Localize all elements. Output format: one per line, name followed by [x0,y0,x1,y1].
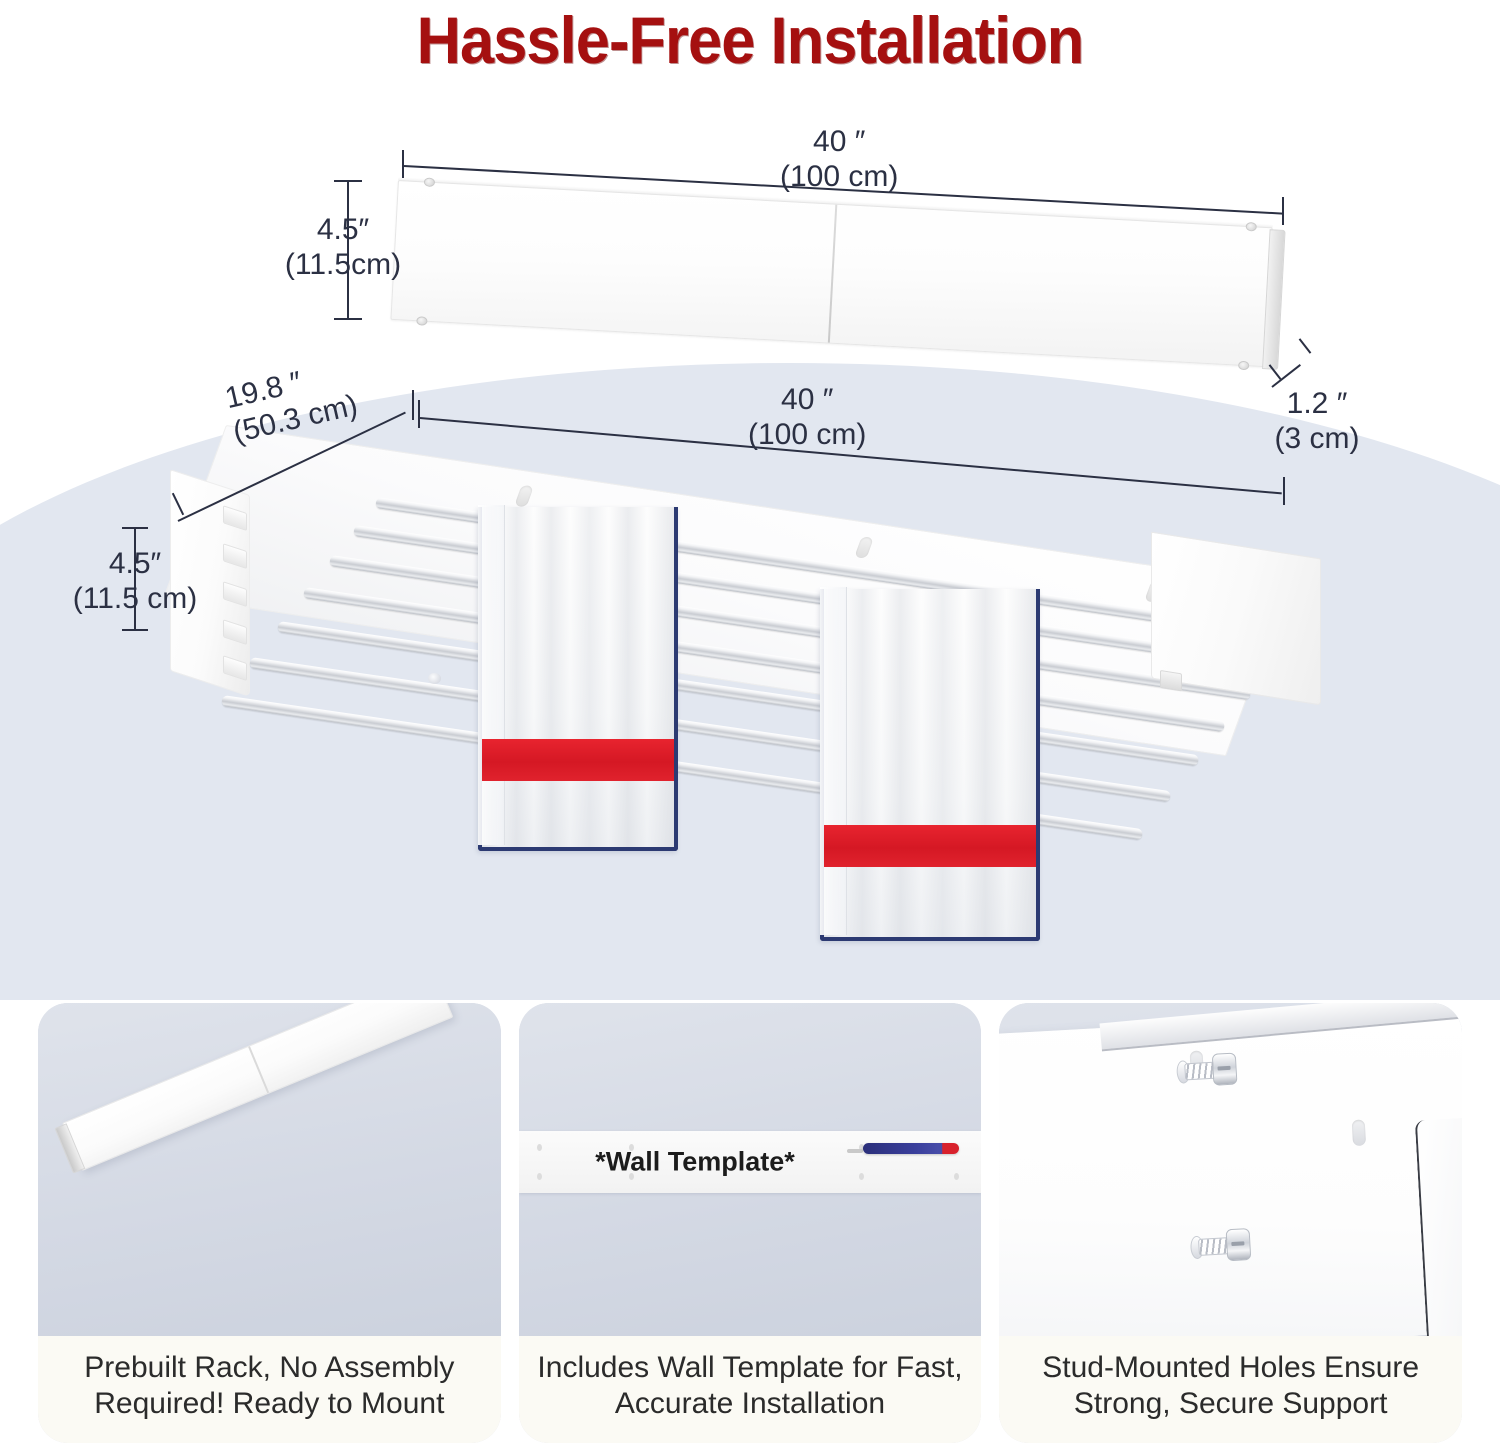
screw-slot [1218,1066,1231,1071]
dimension-tick-left [402,150,404,178]
dimension-value-imperial: 1.2 ″ [1287,387,1348,420]
dimension-tick-right [1282,197,1284,225]
dimension-value-imperial: 4.5″ [317,213,369,246]
folded-rack-seam [828,205,837,343]
dimension-tick-left [418,400,420,428]
towel-fold [478,505,505,845]
dimension-value-imperial: 40 ″ [813,125,865,158]
dimension-tick-right [1283,477,1285,505]
dimension-tick-thickness-b [1299,338,1312,353]
dimension-label-thickness: 1.2 ″ (3 cm) [1252,387,1382,457]
hanging-towel [820,589,1040,941]
feature-card-caption: Stud-Mounted Holes Ensure Strong, Secure… [999,1336,1462,1443]
dimension-label-rack-width: 40 ″ (100 cm) [748,383,866,453]
towel-stripe [824,825,1036,867]
dimension-value-metric: (3 cm) [1252,422,1382,457]
towel-fold [820,587,847,935]
dimension-value-metric: (11.5 cm) [62,582,208,617]
rack-end-cap [1151,532,1321,706]
dimension-tick-bottom [334,318,362,320]
feature-card-prebuilt-rack[interactable]: Prebuilt Rack, No Assembly Required! Rea… [38,1003,501,1443]
bracket-top-rail [1100,1003,1462,1051]
wall-template-strip: *Wall Template* [519,1131,982,1193]
page-title: Hassle-Free Installation [53,2,1448,78]
rod-socket [223,655,247,681]
feature-card-caption: Prebuilt Rack, No Assembly Required! Rea… [38,1336,501,1443]
feature-cards: Prebuilt Rack, No Assembly Required! Rea… [0,1003,1500,1443]
marker-pen-icon [863,1143,959,1154]
dimension-value-imperial: 40 ″ [781,383,833,416]
towel-stripe [482,739,674,781]
feature-card-stud-mounted[interactable]: Stud-Mounted Holes Ensure Strong, Secure… [999,1003,1462,1443]
wall-screw-icon [428,673,441,684]
hanging-towel [478,507,678,851]
feature-card-wall-template[interactable]: *Wall Template* Includes Wall Template f… [519,1003,982,1443]
rod-socket [223,581,247,607]
dimension-tick-depth-far [412,390,414,420]
dimension-value-metric: (100 cm) [780,160,898,195]
mount-slot-icon [854,536,874,559]
mount-slot-icon [514,485,534,508]
rod-socket [223,619,247,645]
caption-line-1: Stud-Mounted Holes Ensure [1009,1350,1452,1387]
stud-mounted-screws-photo [999,1003,1462,1336]
hero-diagram: 40 ″ (100 cm) 4.5″ (11.5cm) [0,95,1500,1000]
rod-socket [223,543,247,569]
caption-line-2: Strong, Secure Support [1009,1386,1452,1423]
caption-line-1: Includes Wall Template for Fast, [529,1350,972,1387]
screw-slot [1232,1241,1245,1246]
pen-tail [847,1149,863,1153]
folded-rack-illustration [390,180,1272,367]
dimension-value-metric: (11.5cm) [278,248,408,283]
dimension-tick-bottom [122,629,148,631]
screw-icon [1198,1228,1252,1261]
caption-line-2: Accurate Installation [529,1386,972,1423]
folded-rack-photo [38,1003,501,1336]
screw-icon [1184,1052,1238,1085]
wall-template-photo: *Wall Template* [519,1003,982,1336]
dimension-label-folded-width: 40 ″ (100 cm) [780,125,898,195]
bracket-side-panel [1415,1116,1462,1335]
rack-bar-seam [248,1046,269,1093]
screw-hole-icon [1238,361,1249,371]
dimension-value-metric: (100 cm) [748,418,866,453]
rack-foot [1160,670,1182,691]
dimension-label-folded-height: 4.5″ (11.5cm) [278,213,408,283]
folded-rack-bar [62,1003,453,1171]
mount-slot-icon [1352,1119,1366,1146]
product-infographic: Hassle-Free Installation 40 ″ (100 cm) [0,0,1500,1443]
rod-socket [223,505,247,531]
caption-line-1: Prebuilt Rack, No Assembly [48,1350,491,1387]
rack-bar-end [55,1123,86,1173]
mounting-bracket-surface [999,1007,1462,1336]
caption-line-2: Required! Ready to Mount [48,1386,491,1423]
feature-card-caption: Includes Wall Template for Fast, Accurat… [519,1336,982,1443]
dimension-label-rack-height: 4.5″ (11.5 cm) [62,547,208,617]
open-rack-illustration [170,425,1305,755]
screw-hole-icon [416,316,427,326]
dimension-value-imperial: 4.5″ [109,547,161,580]
folded-rack-face [390,180,1272,367]
